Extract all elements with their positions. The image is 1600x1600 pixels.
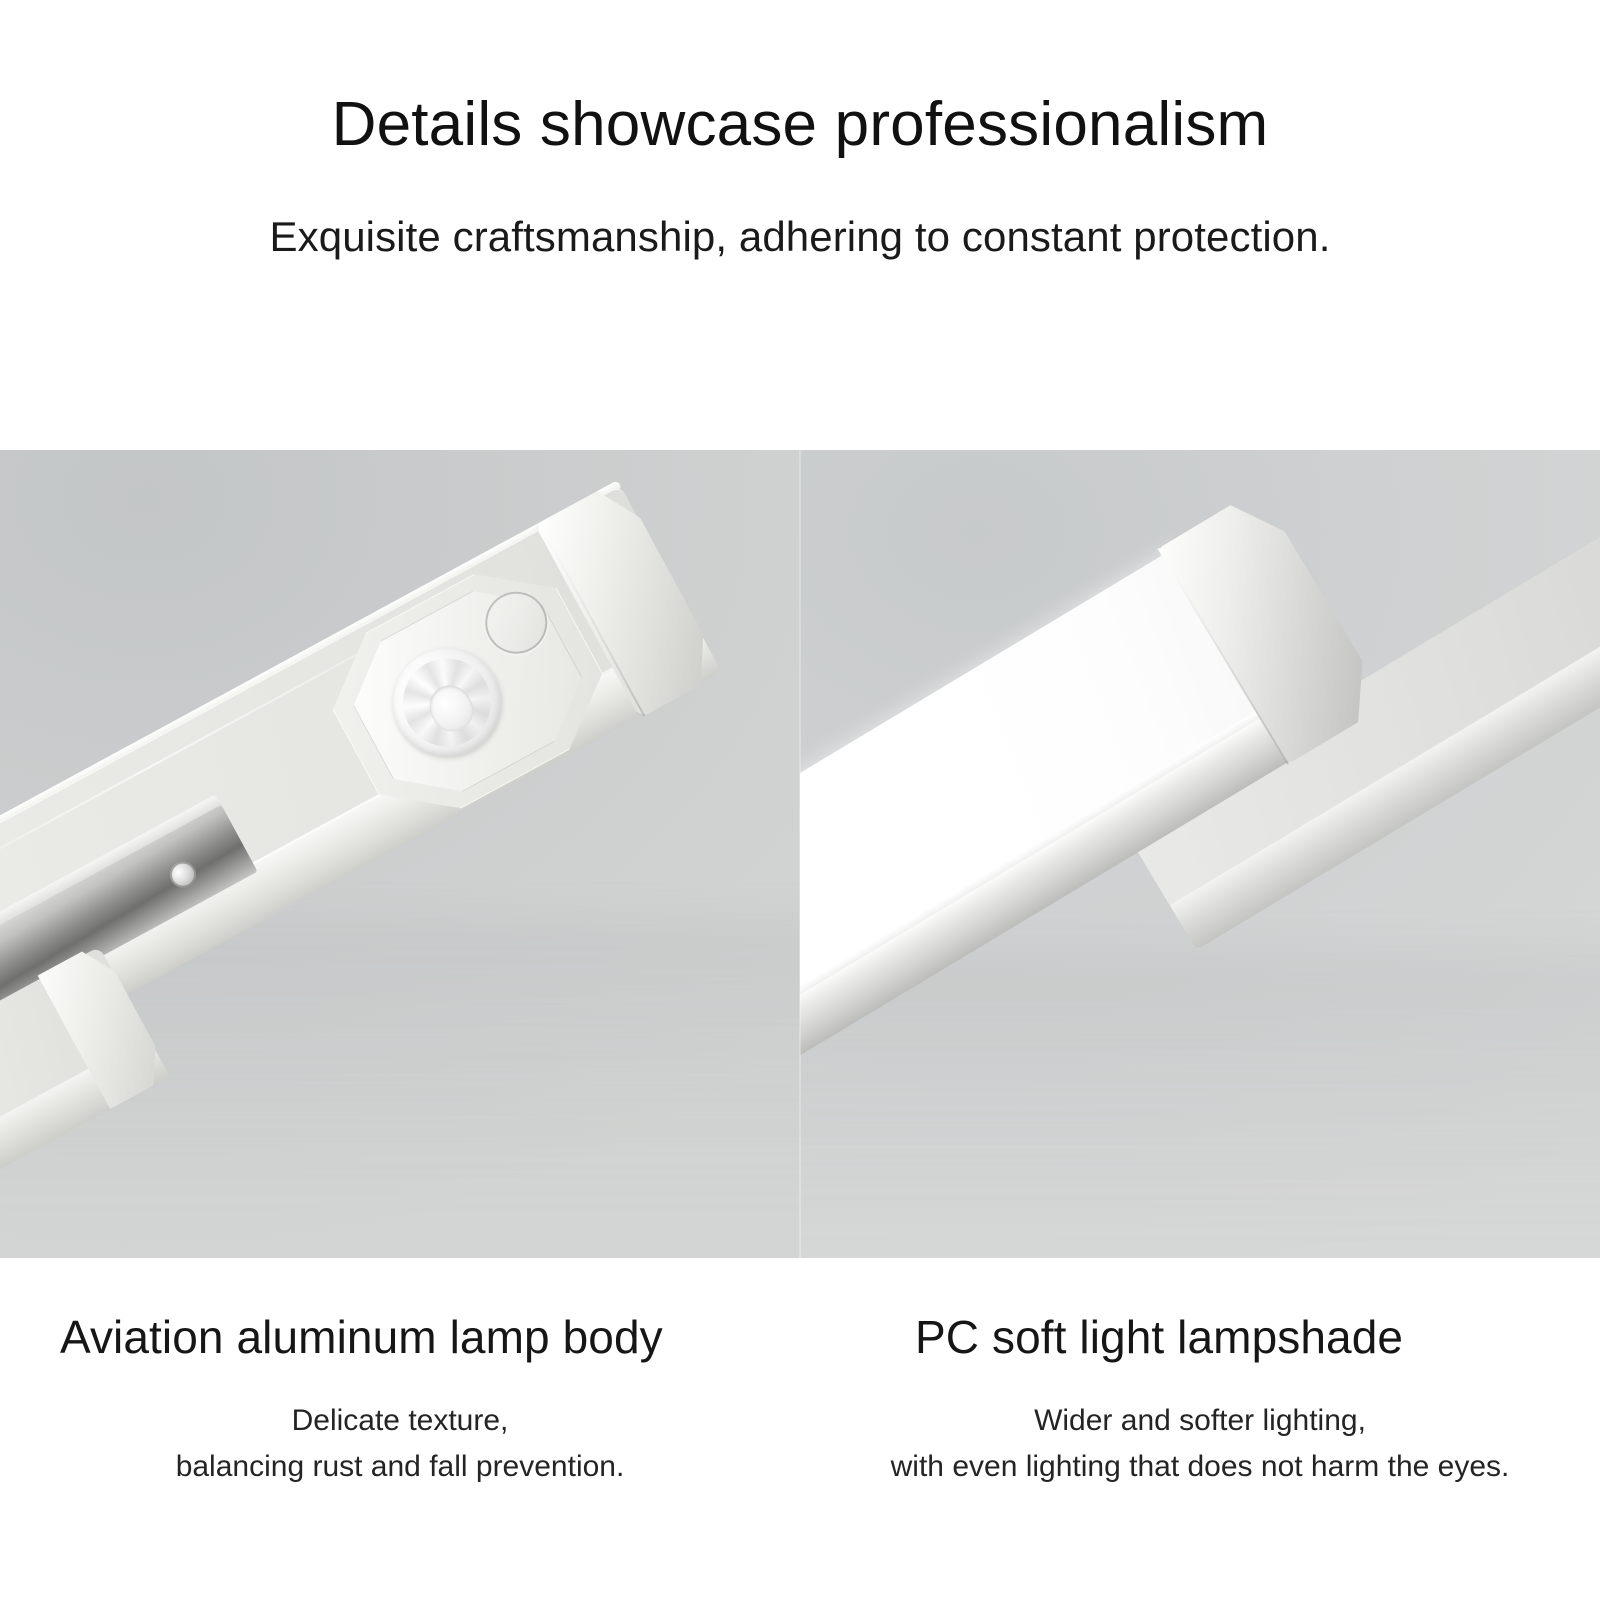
caption-title: Aviation aluminum lamp body [60,1310,663,1364]
caption-pc-lampshade: PC soft light lampshade Wider and softer… [800,1258,1600,1600]
product-photo-band [0,450,1600,1258]
photo-divider [799,450,801,1258]
caption-body: Wider and softer lighting, with even lig… [800,1398,1600,1489]
caption-line-1: Wider and softer lighting, [1034,1404,1366,1437]
product-photo-pc-lampshade [800,450,1600,1258]
caption-line-2: balancing rust and fall prevention. [0,1444,800,1490]
page-subtitle: Exquisite craftsmanship, adhering to con… [270,213,1331,261]
surface-shadow [800,951,1600,1258]
caption-body: Delicate texture, balancing rust and fal… [0,1398,800,1489]
page-title: Details showcase professionalism [332,92,1269,157]
caption-band: Aviation aluminum lamp body Delicate tex… [0,1258,1600,1600]
caption-line-1: Delicate texture, [292,1404,509,1437]
caption-title: PC soft light lampshade [915,1310,1403,1364]
caption-line-2: with even lighting that does not harm th… [800,1444,1600,1490]
caption-aluminum-lamp-body: Aviation aluminum lamp body Delicate tex… [0,1258,800,1600]
product-detail-page: Details showcase professionalism Exquisi… [0,0,1600,1600]
product-photo-aluminum-lamp-body [0,450,800,1258]
header: Details showcase professionalism Exquisi… [0,0,1600,450]
